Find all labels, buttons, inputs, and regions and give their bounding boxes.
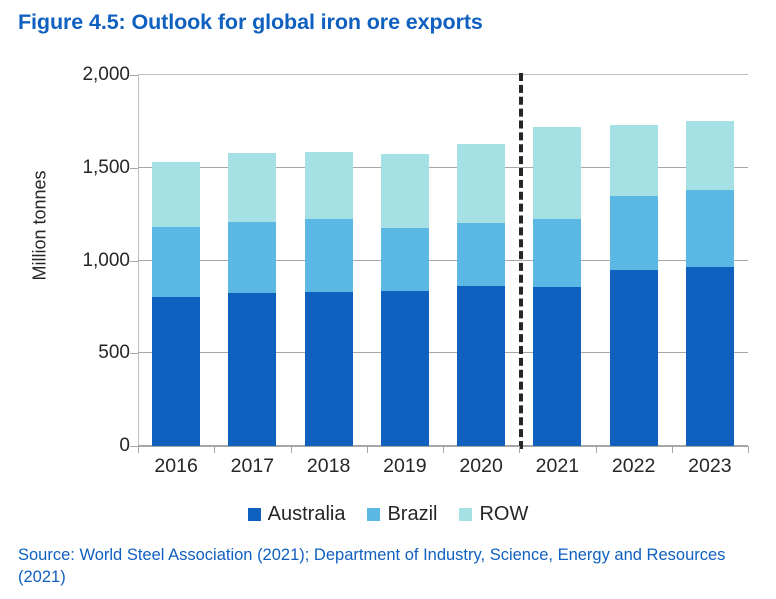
x-tick-mark-0 xyxy=(138,446,139,453)
y-tick-label-1500: 1,500 xyxy=(10,157,130,179)
legend-item-australia[interactable]: Australia xyxy=(248,503,346,526)
y-tick-label-500: 500 xyxy=(10,342,130,364)
bar-group-2017[interactable] xyxy=(228,75,276,446)
x-tick-mark-6 xyxy=(596,446,597,453)
y-axis: 05001,0001,5002,000 xyxy=(0,75,130,446)
y-tick-mark-2000 xyxy=(130,75,138,76)
bar-segment-row-2021[interactable] xyxy=(533,127,581,219)
bar-segment-row-2019[interactable] xyxy=(381,154,429,228)
bar-group-2020[interactable] xyxy=(457,75,505,446)
bar-group-2021[interactable] xyxy=(533,75,581,446)
x-tick-label-2016: 2016 xyxy=(138,455,214,478)
bar-group-2023[interactable] xyxy=(686,75,734,446)
bar-segment-row-2018[interactable] xyxy=(305,152,353,220)
bar-segment-australia-2020[interactable] xyxy=(457,286,505,446)
y-tick-label-0: 0 xyxy=(10,435,130,457)
bar-segment-brazil-2023[interactable] xyxy=(686,190,734,267)
legend-item-row[interactable]: ROW xyxy=(459,503,528,526)
x-tick-label-2021: 2021 xyxy=(519,455,595,478)
legend-swatch-row xyxy=(459,508,472,521)
forecast-divider-line xyxy=(519,73,523,449)
bar-segment-brazil-2019[interactable] xyxy=(381,228,429,291)
bar-group-2022[interactable] xyxy=(610,75,658,446)
bar-segment-australia-2016[interactable] xyxy=(152,297,200,446)
x-tick-mark-2 xyxy=(291,446,292,453)
bar-group-2019[interactable] xyxy=(381,75,429,446)
bar-segment-brazil-2018[interactable] xyxy=(305,219,353,291)
y-tick-mark-0 xyxy=(130,446,138,447)
x-tick-mark-7 xyxy=(672,446,673,453)
bar-segment-australia-2023[interactable] xyxy=(686,267,734,446)
bar-segment-row-2023[interactable] xyxy=(686,121,734,190)
source-note: Source: World Steel Association (2021); … xyxy=(18,545,748,589)
bar-segment-brazil-2020[interactable] xyxy=(457,223,505,286)
x-tick-label-2020: 2020 xyxy=(443,455,519,478)
y-tick-mark-500 xyxy=(130,353,138,354)
x-tick-mark-3 xyxy=(367,446,368,453)
x-axis: 20162017201820192020202120222023 xyxy=(138,455,749,485)
chart-legend: AustraliaBrazilROW xyxy=(0,503,776,526)
y-tick-label-2000: 2,000 xyxy=(10,64,130,86)
bar-segment-brazil-2017[interactable] xyxy=(228,222,276,293)
x-tick-label-2019: 2019 xyxy=(367,455,443,478)
bar-group-2018[interactable] xyxy=(305,75,353,446)
x-tick-mark-5 xyxy=(519,446,520,453)
legend-label-brazil: Brazil xyxy=(387,503,437,526)
x-tick-label-2017: 2017 xyxy=(214,455,290,478)
x-tick-label-2018: 2018 xyxy=(291,455,367,478)
legend-item-brazil[interactable]: Brazil xyxy=(367,503,437,526)
bar-segment-australia-2017[interactable] xyxy=(228,293,276,446)
bar-segment-row-2022[interactable] xyxy=(610,125,658,195)
plot-area xyxy=(138,75,748,446)
bar-group-2016[interactable] xyxy=(152,75,200,446)
legend-label-row: ROW xyxy=(479,503,528,526)
legend-label-australia: Australia xyxy=(268,503,346,526)
bar-segment-australia-2019[interactable] xyxy=(381,291,429,446)
x-tick-mark-8 xyxy=(748,446,749,453)
bar-segment-brazil-2021[interactable] xyxy=(533,219,581,287)
bar-segment-australia-2018[interactable] xyxy=(305,292,353,446)
bar-segment-row-2020[interactable] xyxy=(457,144,505,223)
bar-segment-row-2016[interactable] xyxy=(152,162,200,227)
legend-swatch-brazil xyxy=(367,508,380,521)
bar-segment-brazil-2022[interactable] xyxy=(610,196,658,270)
y-tick-label-1000: 1,000 xyxy=(10,250,130,272)
x-tick-mark-4 xyxy=(443,446,444,453)
y-axis-title: Million tonnes xyxy=(30,126,51,326)
y-tick-mark-1000 xyxy=(130,261,138,262)
bar-segment-australia-2022[interactable] xyxy=(610,270,658,446)
bar-segment-australia-2021[interactable] xyxy=(533,287,581,446)
x-tick-label-2023: 2023 xyxy=(672,455,748,478)
x-tick-label-2022: 2022 xyxy=(596,455,672,478)
page-title: Figure 4.5: Outlook for global iron ore … xyxy=(18,10,483,35)
y-tick-mark-1500 xyxy=(130,168,138,169)
legend-swatch-australia xyxy=(248,508,261,521)
x-tick-mark-1 xyxy=(214,446,215,453)
bar-segment-row-2017[interactable] xyxy=(228,153,276,222)
bar-segment-brazil-2016[interactable] xyxy=(152,227,200,297)
